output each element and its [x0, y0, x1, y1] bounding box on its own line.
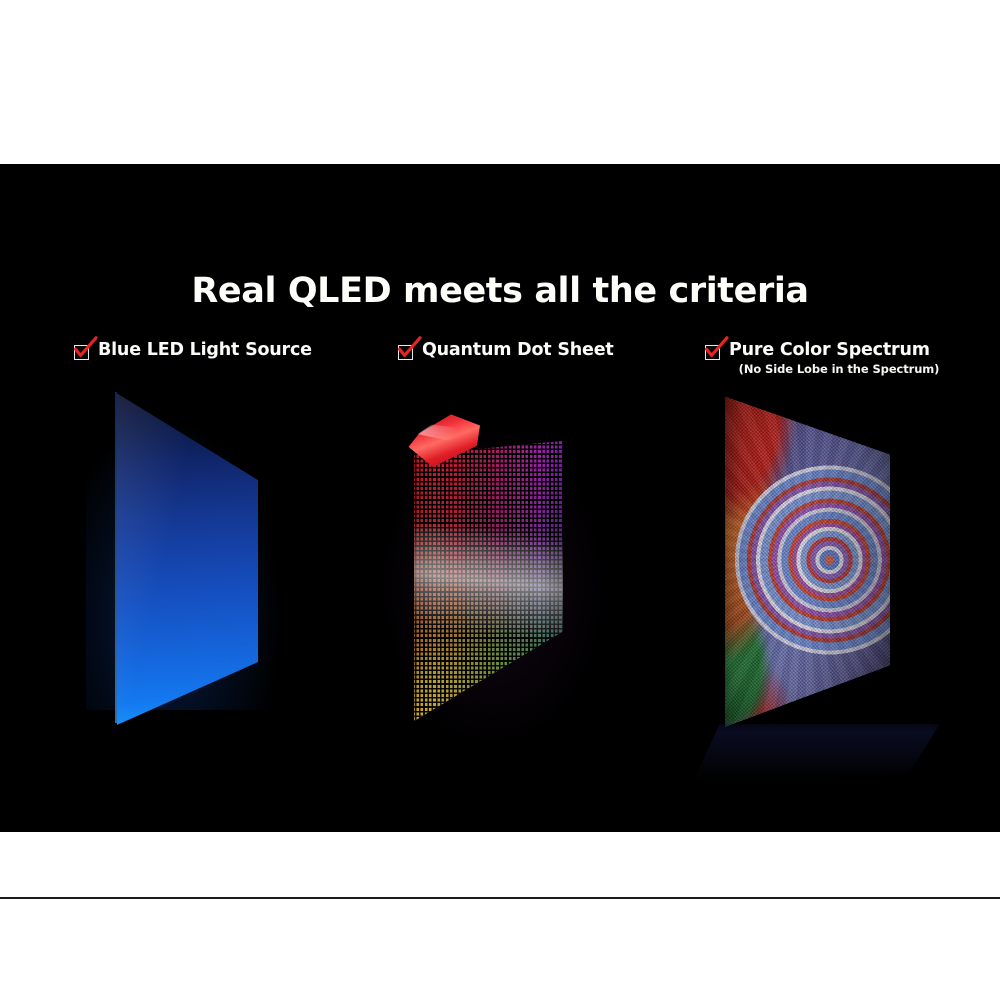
- qd-dot-matrix-face: [408, 441, 563, 721]
- quantum-dot-sheet-illustration: [408, 441, 563, 721]
- red-check-mark-icon: [703, 337, 729, 363]
- criterion-text-group: Pure Color Spectrum (No Side Lobe in the…: [729, 342, 949, 375]
- criterion-label: Blue LED Light Source: [98, 342, 312, 360]
- pure-color-spectrum-illustration: [722, 390, 890, 730]
- red-check-mark-icon: [396, 337, 422, 363]
- qd-peeling-corner: [404, 411, 480, 467]
- blue-panel-sheen: [108, 390, 258, 730]
- blue-panel-left-edge: [115, 392, 117, 723]
- page-divider-rule: [0, 897, 1000, 899]
- spectrum-panel-reflection: [684, 724, 940, 792]
- criterion-quantum-dot-sheet[interactable]: Quantum Dot Sheet: [398, 342, 614, 362]
- criterion-pure-color-spectrum[interactable]: Pure Color Spectrum (No Side Lobe in the…: [705, 342, 949, 375]
- spectrum-panel-image: [722, 390, 890, 730]
- checkbox-outline-icon[interactable]: [705, 345, 722, 362]
- screenshot-root: Real QLED meets all the criteria Blue LE…: [0, 0, 1000, 1000]
- red-check-mark-icon: [72, 337, 98, 363]
- criterion-sublabel: (No Side Lobe in the Spectrum): [729, 364, 949, 376]
- criterion-text-group: Quantum Dot Sheet: [422, 342, 614, 360]
- qled-criteria-banner: Real QLED meets all the criteria Blue LE…: [0, 164, 1000, 832]
- page-title: Real QLED meets all the criteria: [0, 274, 1000, 309]
- criterion-text-group: Blue LED Light Source: [98, 342, 312, 360]
- blue-led-panel-illustration: [108, 390, 258, 730]
- criterion-blue-led-light-source[interactable]: Blue LED Light Source: [74, 342, 312, 362]
- checkbox-outline-icon[interactable]: [74, 345, 91, 362]
- criterion-label: Quantum Dot Sheet: [422, 342, 614, 360]
- criterion-label: Pure Color Spectrum: [729, 342, 949, 360]
- checkbox-outline-icon[interactable]: [398, 345, 415, 362]
